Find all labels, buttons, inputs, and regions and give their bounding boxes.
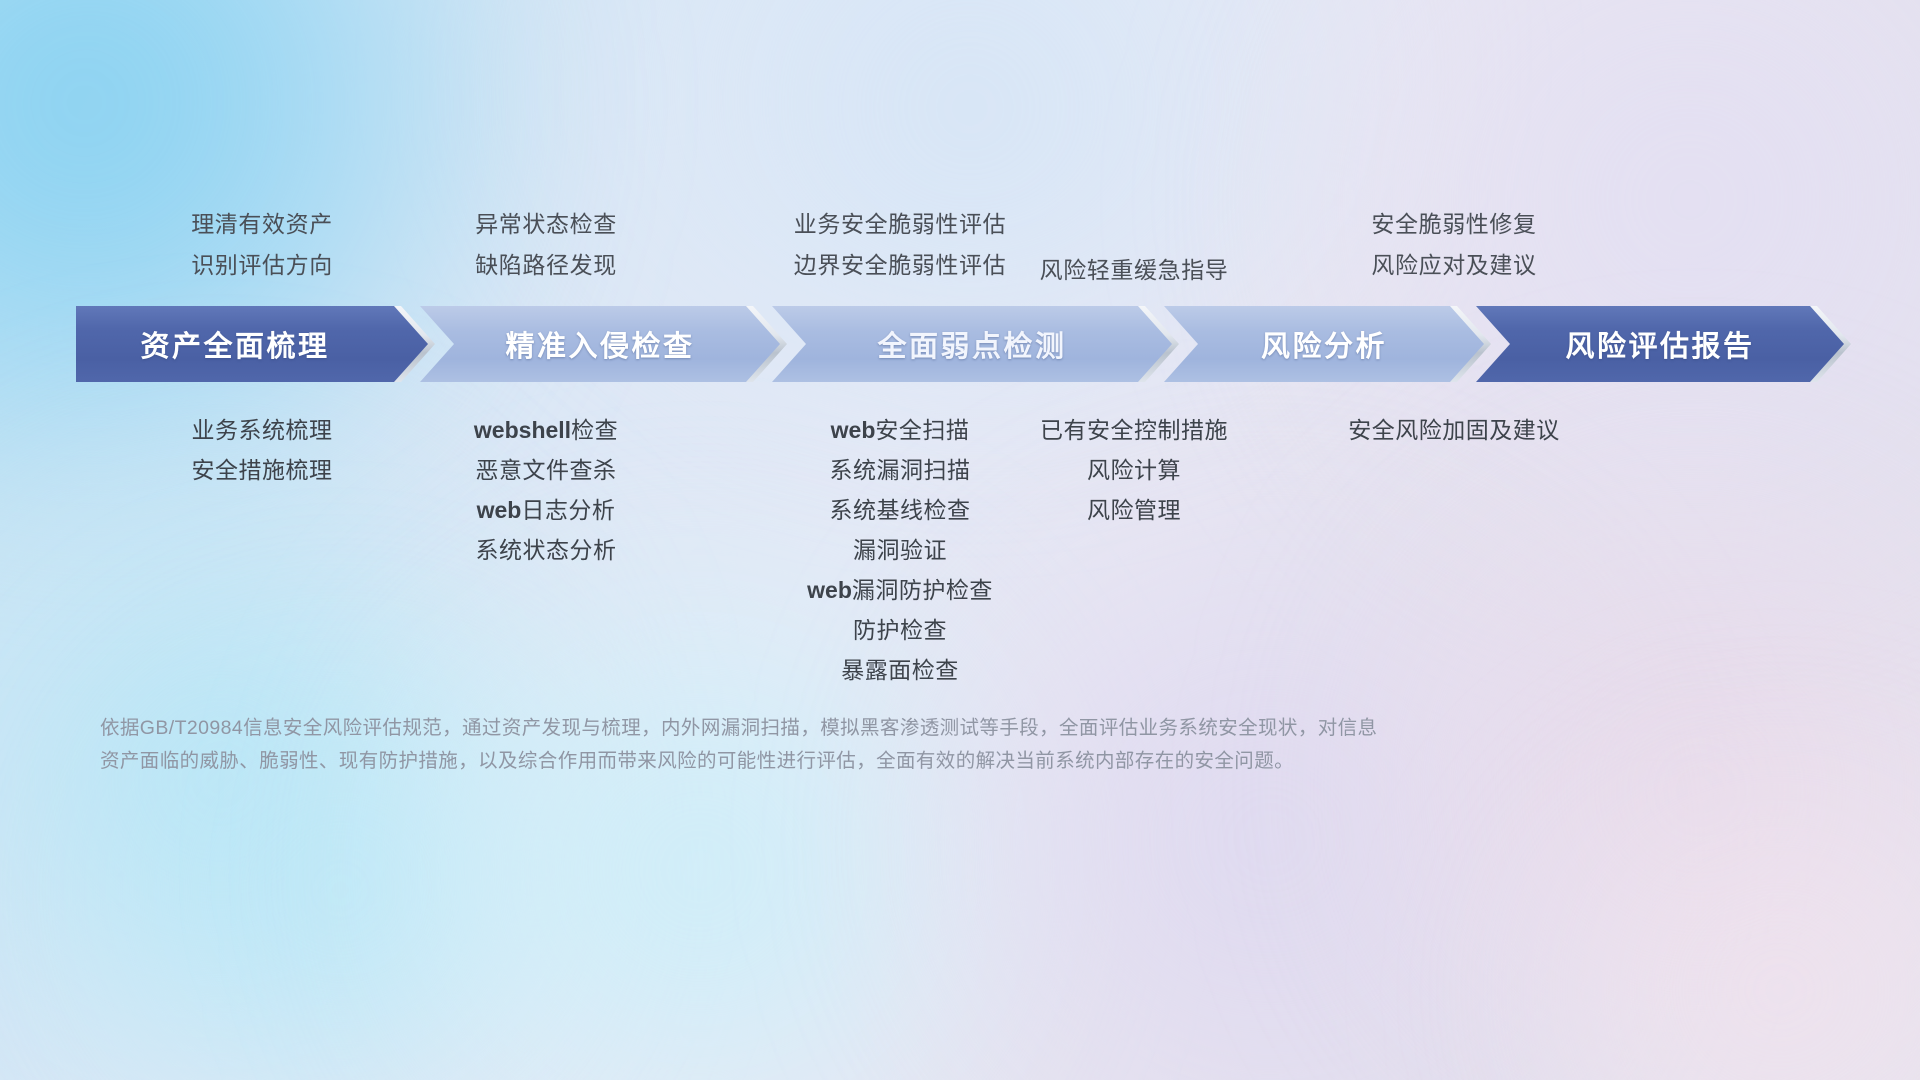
chevron-risk-analysis[interactable]: 风险分析 — [1164, 306, 1484, 382]
top-note-item: 业务安全脆弱性评估 — [794, 204, 1006, 245]
chevron-label-risk-report: 风险评估报告 — [1476, 323, 1844, 365]
chevron-label-asset-inventory: 资产全面梳理 — [76, 323, 428, 365]
item-weakness-detection: web漏洞防护检查 — [807, 570, 993, 610]
top-notes-risk-report: 安全脆弱性修复风险应对及建议 — [1371, 204, 1536, 286]
chevron-label-risk-analysis: 风险分析 — [1164, 323, 1484, 365]
top-note-item: 缺陷路径发现 — [475, 245, 617, 286]
footer-description: 依据GB/T20984信息安全风险评估规范，通过资产发现与梳理，内外网漏洞扫描，… — [100, 712, 1630, 778]
chevron-label-weakness-detection: 全面弱点检测 — [772, 323, 1172, 365]
item-intrusion-check: 系统状态分析 — [476, 530, 617, 570]
chevron-asset-inventory[interactable]: 资产全面梳理 — [76, 306, 428, 382]
items-intrusion-check: webshell检查恶意文件查杀web日志分析系统状态分析 — [474, 410, 618, 570]
chevron-intrusion-check[interactable]: 精准入侵检查 — [420, 306, 780, 382]
item-weakness-detection: 漏洞验证 — [853, 530, 947, 570]
top-notes-weakness-detection: 业务安全脆弱性评估边界安全脆弱性评估 — [794, 204, 1006, 286]
chevron-label-intrusion-check: 精准入侵检查 — [420, 323, 780, 365]
process-diagram: 理清有效资产识别评估方向异常状态检查缺陷路径发现业务安全脆弱性评估边界安全脆弱性… — [0, 0, 1920, 1080]
top-notes-asset-inventory: 理清有效资产识别评估方向 — [191, 204, 333, 286]
item-weakness-detection: web安全扫描 — [831, 410, 970, 450]
item-risk-analysis: 风险管理 — [1087, 490, 1181, 530]
item-intrusion-check: webshell检查 — [474, 410, 618, 450]
item-intrusion-check: 恶意文件查杀 — [476, 450, 617, 490]
item-intrusion-check: web日志分析 — [477, 490, 616, 530]
chevron-weakness-detection[interactable]: 全面弱点检测 — [772, 306, 1172, 382]
top-note-item: 异常状态检查 — [475, 204, 617, 245]
stage-top-notes-row: 理清有效资产识别评估方向异常状态检查缺陷路径发现业务安全脆弱性评估边界安全脆弱性… — [0, 176, 1920, 286]
item-asset-inventory: 业务系统梳理 — [192, 410, 333, 450]
latin-token: web — [831, 417, 876, 443]
top-note-item: 识别评估方向 — [191, 245, 333, 286]
top-note-item: 风险应对及建议 — [1371, 245, 1536, 286]
top-note-item: 风险轻重缓急指导 — [1040, 250, 1229, 291]
items-asset-inventory: 业务系统梳理安全措施梳理 — [192, 410, 333, 490]
footer-line-2: 资产面临的威胁、脆弱性、现有防护措施，以及综合作用而带来风险的可能性进行评估，全… — [100, 745, 1630, 778]
item-risk-report: 安全风险加固及建议 — [1348, 410, 1560, 450]
item-weakness-detection: 暴露面检查 — [841, 650, 959, 690]
item-weakness-detection: 系统基线检查 — [829, 490, 970, 530]
item-risk-analysis: 已有安全控制措施 — [1040, 410, 1228, 450]
latin-token: webshell — [474, 417, 571, 443]
latin-token: web — [807, 577, 852, 603]
stage-chevron-band: 资产全面梳理精准入侵检查全面弱点检测风险分析风险评估报告 — [76, 306, 1844, 382]
items-risk-report: 安全风险加固及建议 — [1348, 410, 1560, 450]
items-weakness-detection: web安全扫描系统漏洞扫描系统基线检查漏洞验证web漏洞防护检查防护检查暴露面检… — [807, 410, 993, 690]
item-weakness-detection: 系统漏洞扫描 — [829, 450, 970, 490]
top-notes-risk-analysis: 风险轻重缓急指导 — [1040, 250, 1229, 291]
latin-token: web — [477, 497, 522, 523]
footer-line-1: 依据GB/T20984信息安全风险评估规范，通过资产发现与梳理，内外网漏洞扫描，… — [100, 712, 1630, 745]
top-note-item: 理清有效资产 — [191, 204, 333, 245]
top-note-item: 边界安全脆弱性评估 — [794, 245, 1006, 286]
item-weakness-detection: 防护检查 — [853, 610, 947, 650]
item-asset-inventory: 安全措施梳理 — [192, 450, 333, 490]
chevron-risk-report[interactable]: 风险评估报告 — [1476, 306, 1844, 382]
top-notes-intrusion-check: 异常状态检查缺陷路径发现 — [475, 204, 617, 286]
item-risk-analysis: 风险计算 — [1087, 450, 1181, 490]
items-risk-analysis: 已有安全控制措施风险计算风险管理 — [1040, 410, 1228, 530]
top-note-item: 安全脆弱性修复 — [1371, 204, 1536, 245]
